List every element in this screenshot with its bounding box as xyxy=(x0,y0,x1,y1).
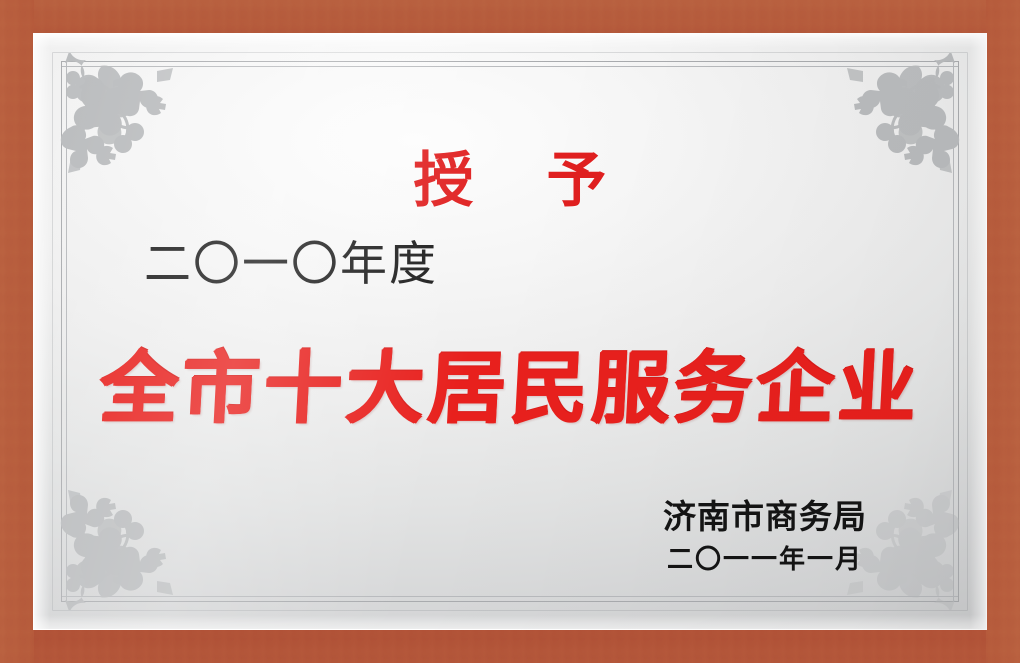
issuing-authority: 济南市商务局 xyxy=(663,498,867,536)
issuer-signature-block: 济南市商务局 二〇一一年一月 xyxy=(663,498,867,576)
silver-plate: 授 予 二〇一〇年度 全市十大居民服务企业 济南市商务局 二〇一一年一月 xyxy=(33,33,987,630)
frame-bottom-rail xyxy=(0,629,1020,663)
frame-right-stile xyxy=(986,0,1020,663)
frame-left-stile xyxy=(0,0,34,663)
plaque-inscription: 授 予 二〇一〇年度 全市十大居民服务企业 济南市商务局 二〇一一年一月 xyxy=(33,33,987,630)
award-year-line: 二〇一〇年度 xyxy=(144,241,438,288)
award-plaque: 授 予 二〇一〇年度 全市十大居民服务企业 济南市商务局 二〇一一年一月 xyxy=(0,0,1020,663)
frame-top-rail xyxy=(0,0,1020,34)
issue-date: 二〇一一年一月 xyxy=(663,546,867,576)
grant-label: 授 予 xyxy=(33,151,987,211)
award-title: 全市十大居民服务企业 xyxy=(31,345,990,432)
